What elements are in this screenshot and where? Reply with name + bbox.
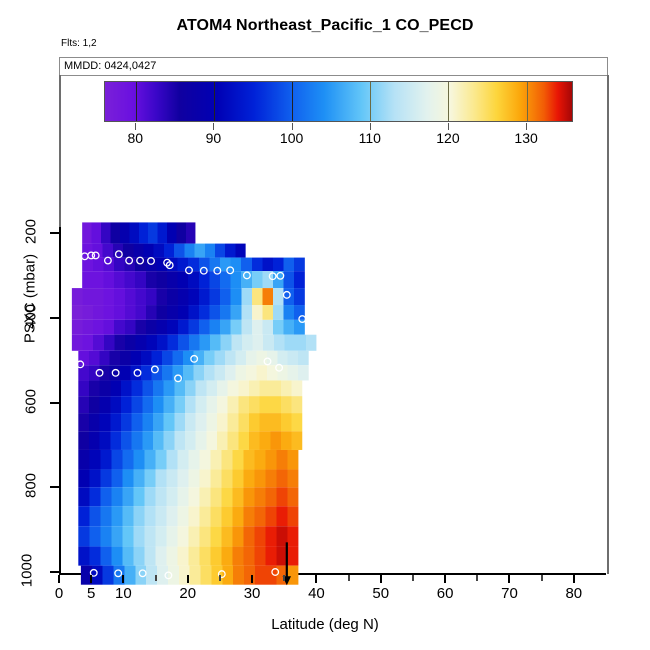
x-axis-minor-tick	[283, 575, 285, 581]
colorbar-tick-label: 100	[280, 130, 303, 146]
colorbar-tick-label: 90	[206, 130, 222, 146]
colorbar-tickmark	[526, 123, 527, 130]
x-axis-title: Latitude (deg N)	[0, 616, 650, 633]
sample-marker	[277, 273, 284, 280]
sample-marker	[88, 252, 95, 259]
x-axis-minor-tick	[476, 575, 478, 581]
colorbar-tickmark	[370, 123, 371, 130]
y-axis-tick-label: 1000	[19, 541, 36, 601]
sample-marker	[137, 257, 144, 264]
heatmap-row	[72, 305, 305, 320]
sample-marker	[276, 364, 283, 371]
y-axis-tick-label: 800	[23, 456, 40, 516]
x-axis-tick	[122, 575, 124, 583]
heatmap-row	[81, 566, 299, 585]
heatmap-row	[78, 396, 302, 413]
heatmap-row	[78, 431, 302, 450]
sample-marker	[200, 267, 207, 274]
sample-marker	[126, 257, 133, 264]
sample-marker	[116, 251, 123, 258]
colorbar-tick	[214, 82, 215, 121]
plot-frame-left-upper	[59, 75, 61, 227]
x-axis-tick-label: 60	[437, 585, 454, 602]
x-axis-tick	[58, 575, 60, 583]
sample-marker	[81, 253, 88, 260]
plot-frame-right	[607, 75, 609, 574]
colorbar-tick-label: 120	[436, 130, 459, 146]
x-axis-tick	[315, 575, 317, 583]
heatmap-row	[78, 365, 308, 380]
x-axis-tick	[251, 575, 253, 583]
heatmap-row	[78, 487, 298, 506]
x-axis-tick-label: 70	[501, 585, 518, 602]
heatmap-row	[78, 351, 308, 365]
sample-marker	[227, 267, 234, 274]
sample-marker	[92, 252, 99, 259]
sample-marker	[152, 366, 159, 373]
mmdd-label: MMDD: 0424,0427	[64, 60, 156, 72]
heatmap-row	[72, 320, 305, 335]
colorbar-tick	[370, 82, 371, 121]
x-axis-tick-label: 30	[244, 585, 261, 602]
colorbar-tickmark	[213, 123, 214, 130]
sample-marker	[175, 375, 182, 382]
x-axis-tick	[444, 575, 446, 583]
sample-marker	[244, 272, 251, 279]
colorbar-tick-label: 130	[514, 130, 537, 146]
sample-marker	[134, 370, 141, 377]
sample-marker	[71, 369, 78, 376]
sample-marker	[284, 292, 291, 299]
colorbar-tick	[448, 82, 449, 121]
colorbar-tickmark	[292, 123, 293, 130]
heatmap-row	[72, 288, 305, 305]
x-axis-tick-label: 20	[179, 585, 196, 602]
x-axis-tick-label: 50	[372, 585, 389, 602]
heatmap-row	[78, 469, 298, 487]
sample-marker	[105, 257, 112, 264]
sample-marker	[186, 267, 193, 274]
y-axis-tick	[50, 571, 59, 573]
heatmap-row	[82, 258, 305, 272]
colorbar-gradient	[105, 82, 572, 121]
x-axis-tick	[573, 575, 575, 583]
x-axis-minor-tick	[541, 575, 543, 581]
y-axis-tick	[50, 317, 59, 319]
sample-marker	[164, 259, 171, 266]
sample-marker	[299, 316, 306, 323]
page-title: ATOM4 Northeast_Pacific_1 CO_PECD	[0, 17, 650, 35]
heatmap-row	[82, 271, 305, 288]
sample-marker	[305, 320, 312, 327]
sample-marker	[269, 273, 276, 280]
flights-label: Flts: 1,2	[61, 38, 97, 49]
heatmap-row	[78, 506, 298, 526]
colorbar-tickmark	[448, 123, 449, 130]
y-axis-title: PSXC (mbar)	[22, 209, 39, 389]
sample-marker	[166, 262, 173, 269]
heatmap-row	[78, 450, 298, 469]
colorbar-tick-label: 80	[127, 130, 143, 146]
sample-marker	[214, 267, 221, 274]
x-axis-tick	[90, 575, 92, 583]
x-axis-line	[59, 573, 606, 575]
heatmap-row	[78, 413, 302, 431]
x-axis-tick-label: 5	[87, 585, 95, 602]
x-axis-tick	[380, 575, 382, 583]
sample-marker	[191, 356, 198, 363]
heatmap-row	[82, 244, 245, 258]
sample-marker	[96, 370, 103, 377]
x-axis-minor-tick	[219, 575, 221, 581]
x-axis-tick	[187, 575, 189, 583]
x-axis-tick-label: 80	[565, 585, 582, 602]
y-axis-tick	[50, 486, 59, 488]
x-axis-minor-tick	[155, 575, 157, 581]
heatmap-row	[82, 222, 195, 243]
heatmap-row	[78, 380, 302, 396]
colorbar-tick	[292, 82, 293, 121]
heatmap-row	[78, 526, 298, 546]
x-axis-tick	[508, 575, 510, 583]
sample-marker	[77, 361, 84, 368]
colorbar	[104, 81, 573, 122]
x-axis-minor-tick	[412, 575, 414, 581]
colorbar-tick	[527, 82, 528, 121]
plot-frame-left	[59, 227, 61, 574]
colorbar-tick-label: 110	[359, 130, 381, 146]
x-axis-tick-label: 0	[55, 585, 63, 602]
x-axis-tick-label: 40	[308, 585, 325, 602]
heatmap-row	[72, 335, 317, 351]
colorbar-tickmark	[135, 123, 136, 130]
sample-marker	[264, 358, 271, 365]
colorbar-tick	[136, 82, 137, 121]
sample-marker	[148, 258, 155, 265]
x-axis-tick-label: 10	[115, 585, 132, 602]
sample-marker	[112, 370, 119, 377]
y-axis-tick	[50, 232, 59, 234]
x-axis-minor-tick	[348, 575, 350, 581]
y-axis-tick	[50, 402, 59, 404]
heatmap-row	[78, 547, 298, 566]
